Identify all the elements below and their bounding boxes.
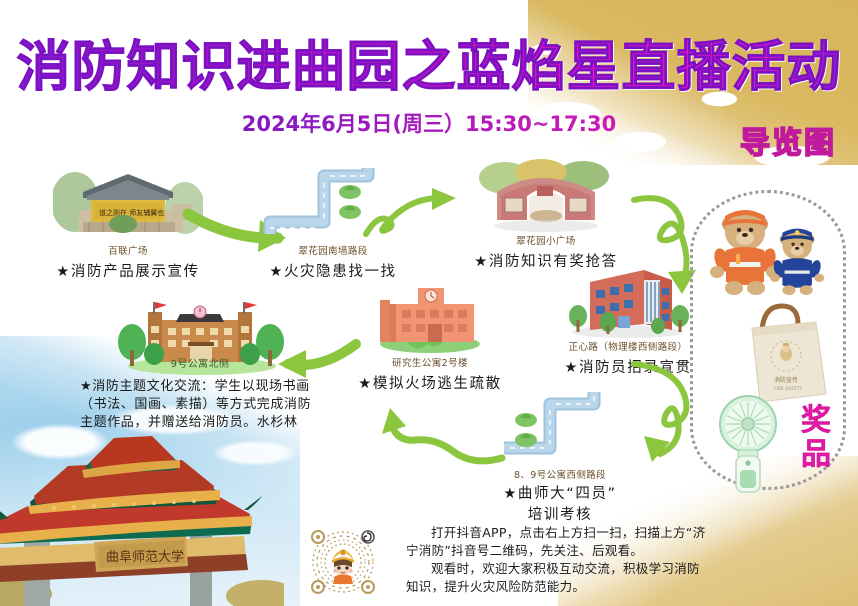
stop-desc-1: ★消防产品展示宣传 xyxy=(18,260,238,281)
stop-place-3: 翠花园小广场 xyxy=(438,233,654,247)
dorm-building-clock-icon xyxy=(360,278,500,354)
footer-note: 打开抖音APP，点击右上方扫一扫，扫描上方“济宁消防”抖音号二维码，先关注、后观… xyxy=(406,524,706,596)
guide-map-badge: 导览图 xyxy=(740,118,836,162)
stop-place-5: 研究生公寓2号楼 xyxy=(330,355,530,369)
stop-card-6[interactable]: 9号公寓北侧 ★消防主题文化交流：学生以现场书画（书法、国画、素描）等方式完成消… xyxy=(80,298,320,432)
svg-text:曲阜师范大学: 曲阜师范大学 xyxy=(106,549,184,565)
footer-note-line-2: 观看时，欢迎大家积极互动交流，积极学习消防知识，提升火灾风险防范能力。 xyxy=(406,560,706,596)
handheld-fan-prize-icon xyxy=(712,390,784,495)
stop-card-2[interactable]: 翠花园南墙路段 ★火灾隐患找一找 xyxy=(228,160,438,281)
road-segment-icon xyxy=(258,160,408,242)
footer-note-line-1: 打开抖音APP，点击右上方扫一扫，扫描上方“济宁消防”抖音号二维码，先关注、后观… xyxy=(406,524,706,560)
stop-place-7: 8、9号公寓西侧路段 xyxy=(455,467,665,481)
stop-desc-6: ★消防主题文化交流：学生以现场书画（书法、国画、素描）等方式完成消防主题作品，并… xyxy=(80,378,320,432)
chinese-archway-illustration: 曲阜师范大学 xyxy=(0,416,284,606)
office-building-icon xyxy=(558,264,698,338)
page-title: 消防知识进曲园之蓝焰星直播活动 xyxy=(0,36,858,98)
stop-place-6: 9号公寓北侧 xyxy=(80,355,320,370)
moon-gate-photo-icon xyxy=(471,156,621,232)
stone-gate-photo-icon: 道之则在 师友辅翼也 xyxy=(53,162,203,242)
svg-text:道之则在 师友辅翼也: 道之则在 师友辅翼也 xyxy=(99,208,164,217)
svg-text:消防宣传: 消防宣传 xyxy=(774,376,798,384)
douyin-qr-code-icon[interactable] xyxy=(303,522,383,602)
teddy-bears-prize-icon xyxy=(706,200,836,300)
stop-desc-7: ★曲师大“四员” 培训考核 xyxy=(455,484,665,526)
road-segment-icon-2 xyxy=(490,386,630,466)
event-datetime: 2024年6月5日(周三）15:30~17:30 xyxy=(0,108,858,138)
stop-card-1[interactable]: 道之则在 师友辅翼也 百联广场 ★消防产品展示宣传 xyxy=(18,162,238,281)
stop-place-2: 翠花园南墙路段 xyxy=(228,243,438,257)
poster-canvas: 曲阜师范大学 消防知识进曲园之蓝焰星直播活动 2024年6月5 xyxy=(0,0,858,606)
stop-card-3[interactable]: 翠花园小广场 ★消防知识有奖抢答 xyxy=(438,156,654,271)
prize-label: 奖品 xyxy=(796,404,836,472)
stop-card-5[interactable]: 研究生公寓2号楼 ★模拟火场逃生疏散 xyxy=(330,278,530,393)
stop-card-7[interactable]: 8、9号公寓西侧路段 ★曲师大“四员” 培训考核 xyxy=(455,386,665,526)
stop-place-1: 百联广场 xyxy=(18,243,238,257)
